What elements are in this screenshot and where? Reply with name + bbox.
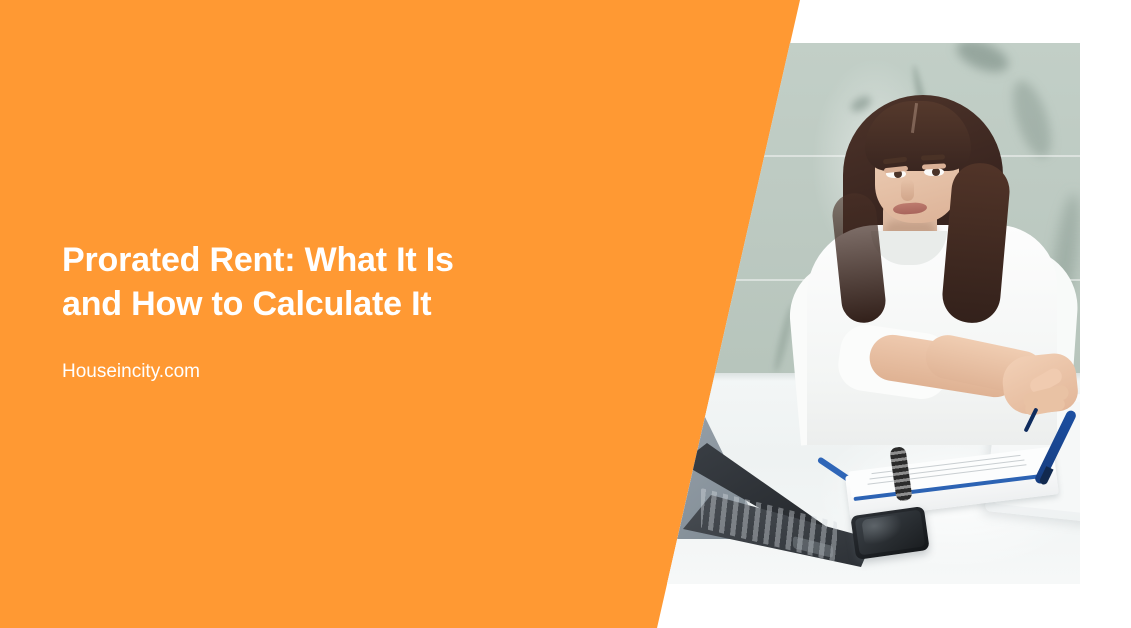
banner-text-block: Prorated Rent: What It Is and How to Cal… <box>62 238 532 384</box>
smartphone-reflection <box>861 514 904 545</box>
marble-vein-icon <box>848 93 873 114</box>
page-title: Prorated Rent: What It Is and How to Cal… <box>62 238 532 326</box>
site-name-label: Houseincity.com <box>62 360 532 384</box>
banner-canvas: Prorated Rent: What It Is and How to Cal… <box>0 0 1131 628</box>
marble-vein-icon <box>952 43 1013 78</box>
marble-vein-icon <box>1005 76 1058 161</box>
iris-right <box>932 168 940 176</box>
nose <box>901 179 914 201</box>
